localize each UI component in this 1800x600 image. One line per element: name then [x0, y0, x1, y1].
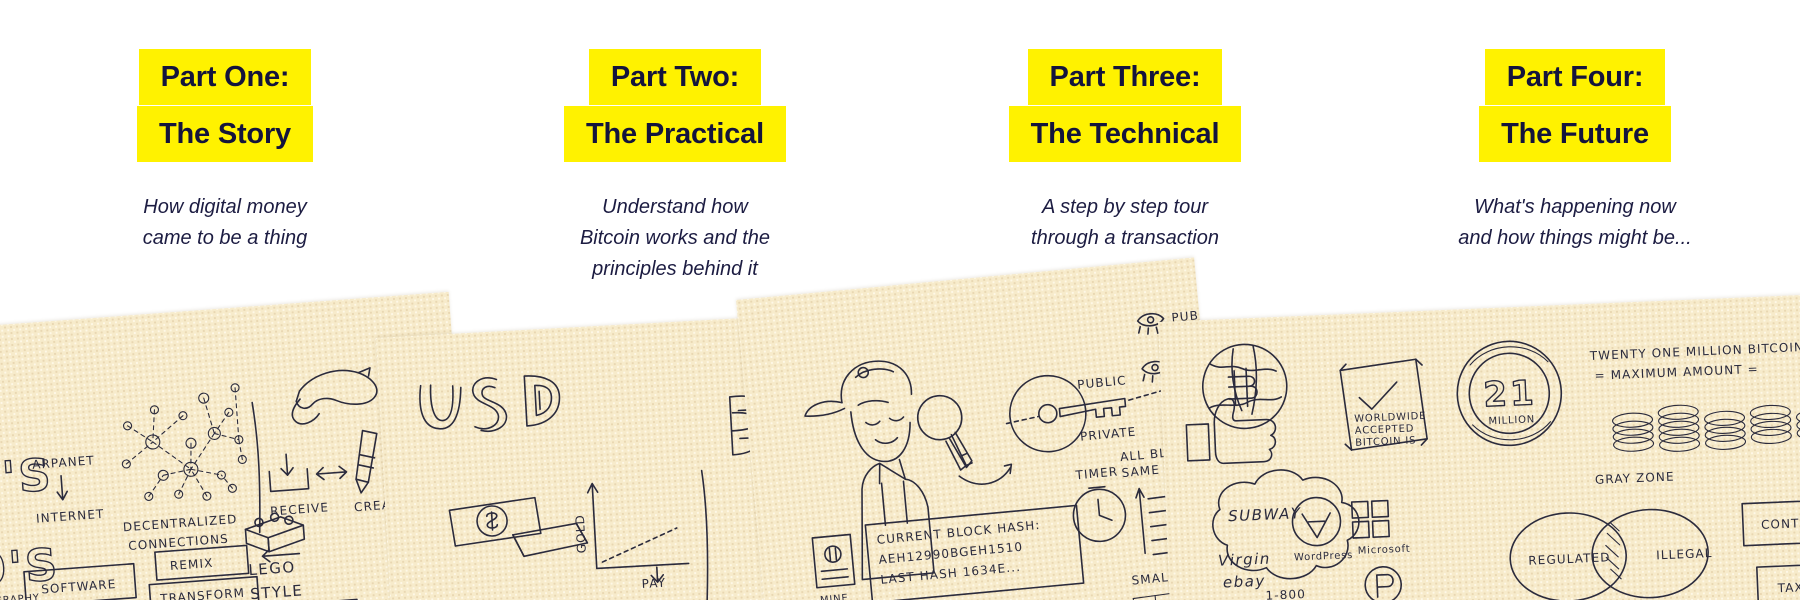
part-one-title-label[interactable]: The Story	[137, 106, 313, 162]
part-one-number-label[interactable]: Part One:	[139, 49, 312, 105]
part-four-title-label[interactable]: The Future	[1479, 106, 1671, 162]
svg-text:SUBWAY: SUBWAY	[1228, 504, 1302, 525]
part-column-two: Part Two: The Practical Understand how B…	[450, 0, 900, 300]
svg-text:STYLE: STYLE	[250, 581, 304, 600]
part-one-subtitle: How digital money came to be a thing	[143, 192, 308, 254]
svg-text:LEGO: LEGO	[248, 558, 296, 579]
part-column-four: Part Four: The Future What's happening n…	[1350, 0, 1800, 300]
part-four-number-label[interactable]: Part Four:	[1485, 49, 1666, 105]
svg-text:TRANSFORM: TRANSFORM	[159, 586, 246, 600]
part-column-one: Part One: The Story How digital money ca…	[0, 0, 450, 300]
svg-text:DECENTRALIZED: DECENTRALIZED	[122, 512, 237, 534]
svg-text:INTERNET: INTERNET	[36, 507, 105, 526]
svg-text:PRIVATE: PRIVATE	[1079, 425, 1137, 444]
svg-text:MINE: MINE	[820, 593, 849, 600]
svg-text:CONTROL: CONTROL	[1761, 515, 1800, 532]
svg-text:REGULATED: REGULATED	[1528, 550, 1611, 567]
svg-text:ILLEGAL: ILLEGAL	[1656, 546, 1713, 562]
svg-text:WordPress: WordPress	[1294, 550, 1354, 563]
svg-text:INTERNET: INTERNET	[0, 523, 1, 538]
svg-text:GRAY ZONE: GRAY ZONE	[1595, 470, 1675, 487]
parts-heading-row: Part One: The Story How digital money ca…	[0, 0, 1800, 300]
svg-text:Virgin: Virgin	[1218, 549, 1272, 569]
svg-text:MILLION: MILLION	[1488, 414, 1535, 427]
svg-text:TIMER: TIMER	[1074, 464, 1119, 482]
svg-text:REMIX: REMIX	[169, 556, 213, 573]
svg-text:Microsoft: Microsoft	[1358, 544, 1411, 557]
svg-text:21: 21	[1483, 373, 1538, 415]
svg-text:TWENTY ONE MILLION BITCOIN: TWENTY ONE MILLION BITCOIN	[1589, 340, 1800, 363]
part-three-number-label[interactable]: Part Three:	[1028, 49, 1223, 105]
svg-text:TAXES: TAXES	[1776, 579, 1800, 595]
svg-text:ebay: ebay	[1223, 572, 1267, 592]
svg-text:= MAXIMUM AMOUNT =: = MAXIMUM AMOUNT =	[1594, 362, 1759, 383]
part-three-subtitle: A step by step tour through a transactio…	[1031, 192, 1219, 254]
svg-text:1-800: 1-800	[1265, 587, 1306, 600]
part-two-number-label[interactable]: Part Two:	[589, 49, 761, 105]
svg-text:BITCOIN IS: BITCOIN IS	[1355, 435, 1417, 449]
svg-text:GOLD: GOLD	[573, 514, 589, 554]
part-three-title-label[interactable]: The Technical	[1009, 106, 1242, 162]
part-two-title-label[interactable]: The Practical	[564, 106, 786, 162]
part-two-subtitle: Understand how Bitcoin works and the pri…	[580, 192, 770, 285]
sketch-panel-three-the-technical: PUBLIC PRIVATE PUBLIC + PRIVATE = SIGNAT…	[736, 258, 1225, 600]
svg-text:PUBLIC: PUBLIC	[1077, 373, 1128, 392]
part-four-subtitle: What's happening now and how things migh…	[1458, 192, 1691, 254]
sketch-panel-four-the-future: WORLDWIDE ACCEPTED BITCOIN IS 21 MILLION…	[1158, 293, 1800, 600]
part-column-three: Part Three: The Technical A step by step…	[900, 0, 1350, 300]
svg-text:WORLDWIDE: WORLDWIDE	[1354, 411, 1426, 425]
